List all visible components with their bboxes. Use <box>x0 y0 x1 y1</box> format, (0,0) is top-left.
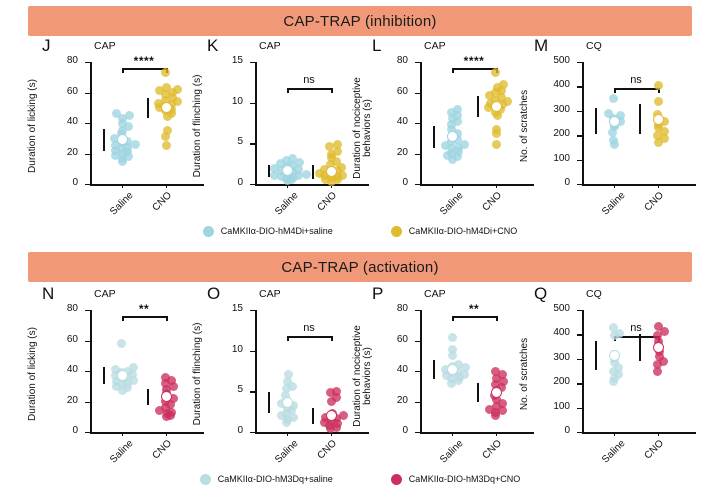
y-tick: 80 <box>85 310 90 311</box>
error-bar <box>268 165 270 178</box>
chart-panel-O: OCAPDuration of flinching (s)051015Salin… <box>193 284 373 469</box>
y-axis-line <box>90 310 92 432</box>
x-tick-label-cno: CNO <box>316 438 340 462</box>
panel-stimulus-label: CAP <box>259 288 281 300</box>
error-bar <box>595 108 597 134</box>
data-point <box>492 140 501 149</box>
error-bar <box>312 408 314 424</box>
y-tick-label: 0 <box>72 177 78 188</box>
x-tick-label-saline: Saline <box>108 438 135 465</box>
y-tick-label: 0 <box>402 177 408 188</box>
chart-panel-M: MCQNo. of scratches0100200300400500Salin… <box>520 36 700 221</box>
significance-bracket-tick <box>122 68 124 73</box>
axis-box: 020406080SalineCNO**** <box>420 62 524 184</box>
panel-letter: K <box>207 36 218 56</box>
banner-title: CAP-TRAP (activation) <box>281 259 438 276</box>
y-tick: 5 <box>250 391 255 392</box>
legend-swatch-icon <box>391 474 402 485</box>
panel-letter: L <box>372 36 381 56</box>
data-point <box>654 322 663 331</box>
y-tick-label: 40 <box>397 364 408 375</box>
data-point <box>654 81 663 90</box>
significance-bracket-tick <box>452 316 454 321</box>
x-tick-label-cno: CNO <box>151 190 175 214</box>
data-point <box>112 109 121 118</box>
chart-panel-J: JCAPDuration of licking (s)020406080Sali… <box>28 36 208 221</box>
data-point <box>284 370 293 379</box>
y-tick: 60 <box>415 93 420 94</box>
x-tick-label-saline: Saline <box>273 438 300 465</box>
significance-bracket-tick <box>496 316 498 321</box>
data-point <box>125 111 134 120</box>
y-tick: 60 <box>85 93 90 94</box>
y-tick-label: 40 <box>67 116 78 127</box>
x-axis-line <box>90 432 204 434</box>
error-bar <box>477 96 479 117</box>
y-tick: 60 <box>85 341 90 342</box>
y-tick-label: 100 <box>553 153 570 164</box>
legend-label: CaMKIIα-DIO-hM4Di+saline <box>221 226 333 236</box>
legend-activation: CaMKIIα-DIO-hM3Dq+salineCaMKIIα-DIO-hM3D… <box>0 470 720 488</box>
y-tick: 0 <box>250 432 255 433</box>
plot-area: Duration of nociceptive behaviors (s)020… <box>358 302 538 469</box>
y-tick-label: 80 <box>67 55 78 66</box>
plot-area: Duration of flinching (s)051015SalineCNO… <box>193 302 373 469</box>
axis-box: 051015SalineCNOns <box>255 62 359 184</box>
significance-label: **** <box>122 54 166 68</box>
x-tick <box>452 432 453 436</box>
axis-box: 0100200300400500SalineCNOns <box>582 310 686 432</box>
group-mean-marker <box>282 397 293 408</box>
plot-area: Duration of flinching (s)051015SalineCNO… <box>193 54 373 221</box>
data-point <box>163 126 172 135</box>
panel-letter: Q <box>534 284 547 304</box>
y-tick: 0 <box>415 184 420 185</box>
y-axis-label: Duration of flinching (s) <box>191 314 205 434</box>
group-mean-marker <box>447 364 458 375</box>
panel-stimulus-label: CAP <box>259 40 281 52</box>
y-tick: 0 <box>85 432 90 433</box>
data-point <box>161 373 170 382</box>
y-tick: 40 <box>415 371 420 372</box>
data-point <box>609 94 618 103</box>
error-bar <box>639 104 641 134</box>
significance-bracket-tick <box>287 336 289 341</box>
significance-bracket-tick <box>614 88 616 93</box>
y-tick: 20 <box>415 402 420 403</box>
x-tick <box>452 184 453 188</box>
plot-area: No. of scratches0100200300400500SalineCN… <box>520 302 700 469</box>
group-mean-marker <box>117 370 128 381</box>
significance-bracket-tick <box>122 316 124 321</box>
x-axis-line <box>90 184 204 186</box>
group-mean-marker <box>161 102 172 113</box>
y-tick: 0 <box>577 432 582 433</box>
y-tick: 15 <box>250 310 255 311</box>
chart-panel-Q: QCQNo. of scratches0100200300400500Salin… <box>520 284 700 469</box>
data-point <box>491 68 500 77</box>
significance-bracket <box>122 68 166 70</box>
y-tick: 10 <box>250 351 255 352</box>
y-tick-label: 40 <box>67 364 78 375</box>
y-tick-label: 100 <box>553 401 570 412</box>
significance-label: ns <box>287 322 331 334</box>
y-tick-label: 200 <box>553 376 570 387</box>
significance-bracket <box>452 316 496 318</box>
data-point <box>173 85 182 94</box>
x-tick-label-saline: Saline <box>600 438 627 465</box>
group-mean-marker <box>491 387 502 398</box>
panel-letter: N <box>42 284 54 304</box>
y-tick-label: 0 <box>564 425 570 436</box>
y-axis-line <box>255 310 257 432</box>
y-tick-label: 300 <box>553 104 570 115</box>
significance-bracket <box>287 336 331 338</box>
panel-letter: P <box>372 284 383 304</box>
y-tick-label: 60 <box>397 86 408 97</box>
x-tick <box>614 184 615 188</box>
chart-panel-K: KCAPDuration of flinching (s)051015Salin… <box>193 36 373 221</box>
legend-swatch-icon <box>200 474 211 485</box>
x-axis-line <box>420 432 534 434</box>
axis-box: 020406080SalineCNO** <box>420 310 524 432</box>
group-mean-marker <box>161 391 172 402</box>
legend-item: CaMKIIα-DIO-hM3Dq+saline <box>200 474 333 485</box>
chart-panel-L: LCAPDuration of nociceptive behaviors (s… <box>358 36 538 221</box>
group-mean-marker <box>609 116 620 127</box>
y-tick-label: 20 <box>397 147 408 158</box>
y-axis-label: Duration of nociceptive behaviors (s) <box>350 66 376 190</box>
legend-label: CaMKIIα-DIO-hM4Di+CNO <box>409 226 517 236</box>
y-axis-label: No. of scratches <box>518 66 532 186</box>
panel-letter: J <box>42 36 51 56</box>
y-axis-line <box>420 310 422 432</box>
x-tick-label-cno: CNO <box>643 438 667 462</box>
y-tick-label: 15 <box>232 303 243 314</box>
y-tick: 100 <box>577 408 582 409</box>
data-point <box>333 140 342 149</box>
error-bar <box>312 165 314 179</box>
data-point <box>609 136 618 145</box>
group-mean-marker <box>653 114 664 125</box>
y-tick-label: 80 <box>67 303 78 314</box>
y-tick-label: 60 <box>67 334 78 345</box>
legend-swatch-icon <box>203 226 214 237</box>
group-mean-marker <box>282 165 293 176</box>
significance-bracket-tick <box>452 68 454 73</box>
y-tick: 0 <box>577 184 582 185</box>
x-tick-label-saline: Saline <box>273 190 300 217</box>
legend-item: CaMKIIα-DIO-hM4Di+saline <box>203 226 333 237</box>
y-tick: 400 <box>577 334 582 335</box>
plot-area: Duration of nociceptive behaviors (s)020… <box>358 54 538 221</box>
panel-letter: M <box>534 36 548 56</box>
legend-inhibition: CaMKIIα-DIO-hM4Di+salineCaMKIIα-DIO-hM4D… <box>0 222 720 240</box>
y-tick: 40 <box>415 123 420 124</box>
error-bar <box>103 367 105 384</box>
axis-box: 020406080SalineCNO**** <box>90 62 194 184</box>
data-point <box>162 141 171 150</box>
y-axis-label: No. of scratches <box>518 314 532 434</box>
group-mean-marker <box>326 166 337 177</box>
error-bar <box>477 383 479 402</box>
y-tick-label: 10 <box>232 344 243 355</box>
y-tick: 40 <box>85 371 90 372</box>
y-tick: 500 <box>577 62 582 63</box>
y-tick: 0 <box>85 184 90 185</box>
x-tick-label-cno: CNO <box>643 190 667 214</box>
y-tick-label: 500 <box>553 55 570 66</box>
y-tick-label: 10 <box>232 96 243 107</box>
x-tick <box>166 184 167 188</box>
y-tick: 0 <box>415 432 420 433</box>
data-point <box>448 345 457 354</box>
data-point <box>117 339 126 348</box>
y-tick: 20 <box>85 154 90 155</box>
error-bar <box>433 360 435 378</box>
plot-area: No. of scratches0100200300400500SalineCN… <box>520 54 700 221</box>
y-tick-label: 20 <box>67 395 78 406</box>
group-mean-marker <box>326 410 337 421</box>
x-tick-label-saline: Saline <box>600 190 627 217</box>
y-axis-label: Duration of nociceptive behaviors (s) <box>350 314 376 438</box>
panel-stimulus-label: CAP <box>424 40 446 52</box>
y-axis-line <box>582 310 584 432</box>
y-tick: 20 <box>415 154 420 155</box>
y-tick-label: 20 <box>67 147 78 158</box>
x-tick <box>122 432 123 436</box>
y-tick: 80 <box>415 62 420 63</box>
x-tick-label-cno: CNO <box>481 190 505 214</box>
group-mean-marker <box>609 350 620 361</box>
y-tick: 200 <box>577 135 582 136</box>
y-tick: 300 <box>577 111 582 112</box>
error-bar <box>147 98 149 118</box>
significance-label: ns <box>287 74 331 86</box>
significance-bracket-tick <box>331 336 333 341</box>
significance-bracket <box>452 68 496 70</box>
data-point <box>161 68 170 77</box>
data-point <box>609 323 618 332</box>
y-tick-label: 400 <box>553 79 570 90</box>
y-axis-line <box>420 62 422 184</box>
significance-bracket <box>122 316 166 318</box>
legend-label: CaMKIIα-DIO-hM3Dq+saline <box>218 474 333 484</box>
y-tick-label: 40 <box>397 116 408 127</box>
panel-stimulus-label: CAP <box>94 40 116 52</box>
y-tick-label: 0 <box>237 425 243 436</box>
x-axis-line <box>420 184 534 186</box>
section-banner-inhibition: CAP-TRAP (inhibition) <box>28 6 692 36</box>
x-tick <box>166 432 167 436</box>
y-tick-label: 5 <box>237 384 243 395</box>
y-axis-label: Duration of flinching (s) <box>191 66 205 186</box>
x-tick <box>122 184 123 188</box>
y-tick-label: 0 <box>402 425 408 436</box>
significance-label: ns <box>614 74 658 86</box>
x-tick <box>496 432 497 436</box>
y-tick: 20 <box>85 402 90 403</box>
panel-row-inhibition: JCAPDuration of licking (s)020406080Sali… <box>0 36 720 221</box>
x-tick-label-saline: Saline <box>108 190 135 217</box>
axis-box: 020406080SalineCNO** <box>90 310 194 432</box>
significance-label: ** <box>452 302 496 316</box>
group-mean-marker <box>491 101 502 112</box>
significance-bracket <box>614 88 658 90</box>
y-tick-label: 400 <box>553 327 570 338</box>
y-tick-label: 15 <box>232 55 243 66</box>
legend-item: CaMKIIα-DIO-hM3Dq+CNO <box>391 474 520 485</box>
y-tick: 80 <box>85 62 90 63</box>
panel-stimulus-label: CAP <box>424 288 446 300</box>
y-tick: 400 <box>577 86 582 87</box>
y-tick-label: 20 <box>397 395 408 406</box>
plot-area: Duration of licking (s)020406080SalineCN… <box>28 302 208 469</box>
panel-stimulus-label: CAP <box>94 288 116 300</box>
data-point <box>460 140 469 149</box>
significance-label: ** <box>122 302 166 316</box>
panel-stimulus-label: CQ <box>586 40 602 52</box>
y-tick-label: 500 <box>553 303 570 314</box>
data-point <box>499 80 508 89</box>
section-banner-activation: CAP-TRAP (activation) <box>28 252 692 282</box>
y-tick-label: 60 <box>67 86 78 97</box>
x-tick <box>496 184 497 188</box>
y-tick-label: 0 <box>564 177 570 188</box>
y-tick: 100 <box>577 160 582 161</box>
y-axis-line <box>255 62 257 184</box>
y-axis-label: Duration of licking (s) <box>26 314 40 434</box>
data-point <box>491 367 500 376</box>
significance-bracket-tick <box>287 88 289 93</box>
y-tick: 40 <box>85 123 90 124</box>
x-tick <box>614 432 615 436</box>
significance-bracket-tick <box>331 88 333 93</box>
data-point <box>129 363 138 372</box>
significance-bracket-tick <box>166 316 168 321</box>
data-point <box>339 411 348 420</box>
significance-label: **** <box>452 54 496 68</box>
panel-row-activation: NCAPDuration of licking (s)020406080Sali… <box>0 284 720 469</box>
y-tick: 200 <box>577 383 582 384</box>
y-axis-label: Duration of licking (s) <box>26 66 40 186</box>
error-bar <box>103 129 105 150</box>
significance-bracket <box>287 88 331 90</box>
y-axis-line <box>582 62 584 184</box>
y-tick: 500 <box>577 310 582 311</box>
x-axis-line <box>582 184 696 186</box>
x-tick-label-saline: Saline <box>438 190 465 217</box>
data-point <box>453 105 462 114</box>
group-mean-marker <box>117 134 128 145</box>
x-tick <box>658 184 659 188</box>
error-bar <box>595 341 597 370</box>
y-axis-line <box>90 62 92 184</box>
error-bar <box>639 334 641 361</box>
error-bar <box>268 392 270 413</box>
y-tick-label: 80 <box>397 55 408 66</box>
panel-letter: O <box>207 284 220 304</box>
legend-item: CaMKIIα-DIO-hM4Di+CNO <box>391 226 517 237</box>
group-mean-marker <box>653 342 664 353</box>
y-tick: 0 <box>250 184 255 185</box>
y-tick-label: 5 <box>237 136 243 147</box>
axis-box: 051015SalineCNOns <box>255 310 359 432</box>
axis-box: 0100200300400500SalineCNOns <box>582 62 686 184</box>
x-tick <box>658 432 659 436</box>
error-bar <box>433 126 435 148</box>
legend-label: CaMKIIα-DIO-hM3Dq+CNO <box>409 474 520 484</box>
data-point <box>302 170 311 179</box>
group-mean-marker <box>447 131 458 142</box>
y-tick-label: 200 <box>553 128 570 139</box>
banner-title: CAP-TRAP (inhibition) <box>283 13 436 30</box>
data-point <box>654 97 663 106</box>
x-tick-label-cno: CNO <box>481 438 505 462</box>
x-tick-label-cno: CNO <box>316 190 340 214</box>
y-tick: 60 <box>415 341 420 342</box>
y-tick: 80 <box>415 310 420 311</box>
error-bar <box>147 389 149 405</box>
y-tick-label: 300 <box>553 352 570 363</box>
chart-panel-P: PCAPDuration of nociceptive behaviors (s… <box>358 284 538 469</box>
y-tick-label: 0 <box>237 177 243 188</box>
y-tick: 15 <box>250 62 255 63</box>
y-tick-label: 60 <box>397 334 408 345</box>
y-tick-label: 80 <box>397 303 408 314</box>
legend-swatch-icon <box>391 226 402 237</box>
x-tick <box>287 432 288 436</box>
y-tick: 10 <box>250 103 255 104</box>
x-tick-label-saline: Saline <box>438 438 465 465</box>
x-axis-line <box>582 432 696 434</box>
data-point <box>492 125 501 134</box>
y-tick: 5 <box>250 143 255 144</box>
y-tick-label: 0 <box>72 425 78 436</box>
panel-stimulus-label: CQ <box>586 288 602 300</box>
data-point <box>448 333 457 342</box>
x-tick-label-cno: CNO <box>151 438 175 462</box>
plot-area: Duration of licking (s)020406080SalineCN… <box>28 54 208 221</box>
y-tick: 300 <box>577 359 582 360</box>
data-point <box>131 140 140 149</box>
chart-panel-N: NCAPDuration of licking (s)020406080Sali… <box>28 284 208 469</box>
